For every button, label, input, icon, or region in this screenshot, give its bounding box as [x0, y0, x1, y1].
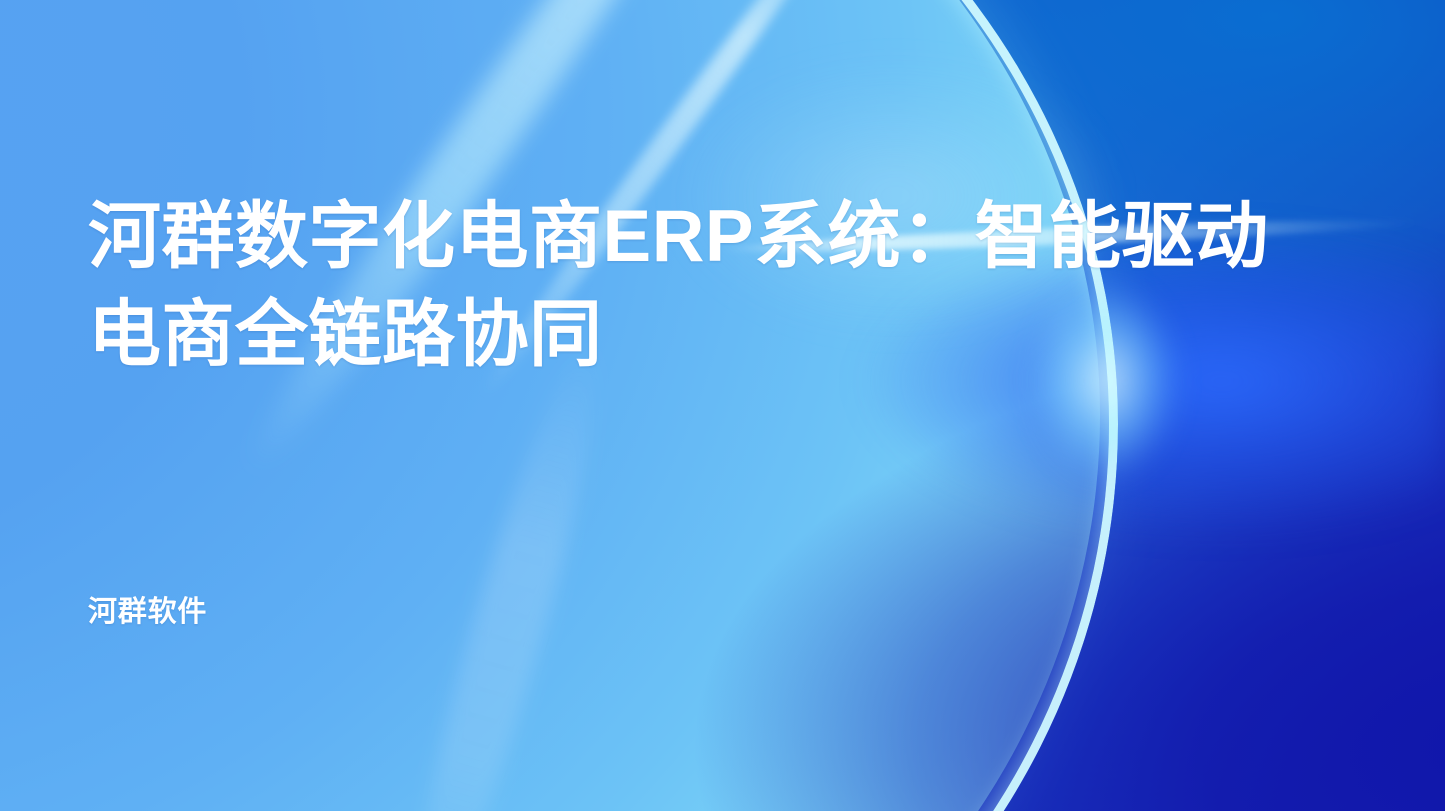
slide-title: 河群数字化电商ERP系统：智能驱动 电商全链路协同	[88, 188, 1318, 384]
slide-content: 河群数字化电商ERP系统：智能驱动 电商全链路协同 河群软件	[0, 0, 1445, 811]
slide-subtitle: 河群软件	[88, 588, 207, 630]
title-slide: 河群数字化电商ERP系统：智能驱动 电商全链路协同 河群软件	[0, 0, 1445, 811]
